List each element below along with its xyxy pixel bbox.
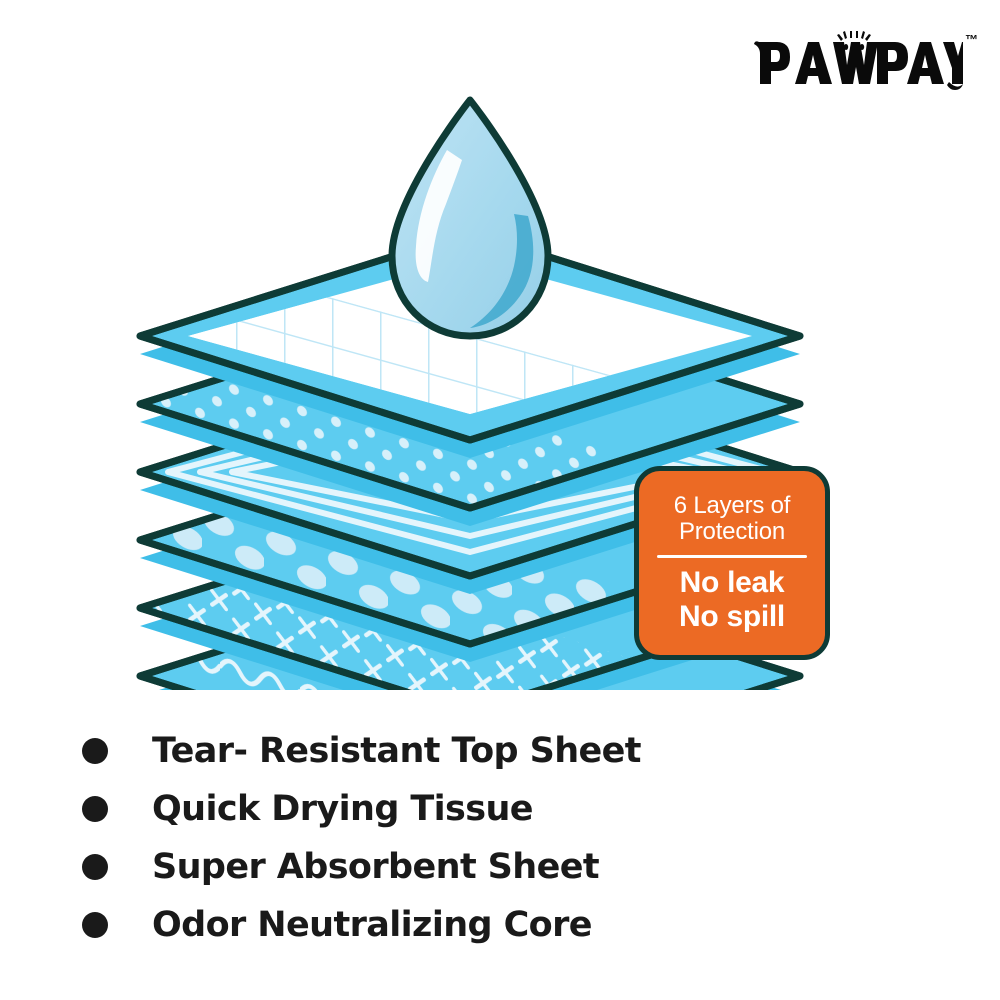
list-item: Odor Neutralizing Core xyxy=(82,896,942,954)
feature-label: Tear- Resistant Top Sheet xyxy=(152,731,641,771)
bullet-dot-icon xyxy=(82,912,108,938)
feature-label: Super Absorbent Sheet xyxy=(152,847,599,887)
protection-badge: 6 Layers of Protection No leak No spill xyxy=(634,466,830,660)
bullet-dot-icon xyxy=(82,854,108,880)
bullet-dot-icon xyxy=(82,796,108,822)
feature-list: Tear- Resistant Top Sheet Quick Drying T… xyxy=(82,722,942,954)
list-item: Quick Drying Tissue xyxy=(82,780,942,838)
badge-divider xyxy=(657,555,807,558)
bullet-dot-icon xyxy=(82,738,108,764)
badge-claim-line1: No leak xyxy=(680,566,785,599)
layer-stack-illustration xyxy=(0,70,1000,690)
badge-claim: No leak No spill xyxy=(679,566,785,633)
badge-title-line2: Protection xyxy=(679,518,785,545)
water-droplet-icon xyxy=(392,100,548,336)
list-item: Super Absorbent Sheet xyxy=(82,838,942,896)
feature-label: Odor Neutralizing Core xyxy=(152,905,592,945)
badge-claim-line2: No spill xyxy=(679,600,785,633)
infographic-page: ™ xyxy=(0,0,1000,1000)
list-item: Tear- Resistant Top Sheet xyxy=(82,722,942,780)
feature-label: Quick Drying Tissue xyxy=(152,789,533,829)
trademark-symbol: ™ xyxy=(965,32,978,47)
badge-title-line1: 6 Layers of xyxy=(674,492,791,519)
badge-title: 6 Layers of Protection xyxy=(674,493,791,547)
